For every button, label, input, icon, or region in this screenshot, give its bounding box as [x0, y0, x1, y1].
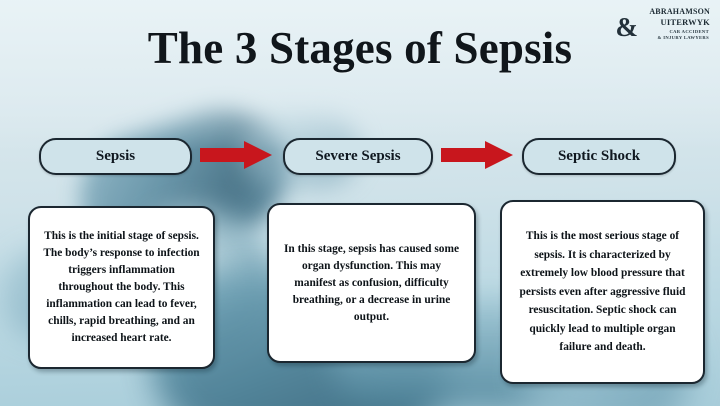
stage-description-card-septic-shock: This is the most serious stage of sepsis… [500, 200, 705, 384]
page-title: The 3 Stages of Sepsis [0, 22, 720, 74]
stage-description-text: This is the most serious stage of sepsis… [513, 227, 692, 357]
stage-description-text: This is the initial stage of sepsis. The… [41, 228, 202, 347]
stage-description-card-severe-sepsis: In this stage, sepsis has caused some or… [267, 203, 476, 363]
right-arrow-icon [200, 140, 272, 170]
stage-description-text: In this stage, sepsis has caused some or… [280, 241, 463, 326]
stage-label-text: Severe Sepsis [315, 148, 400, 165]
stage-label-sepsis: Sepsis [39, 138, 192, 175]
stage-description-card-sepsis: This is the initial stage of sepsis. The… [28, 206, 215, 369]
stage-label-severe-sepsis: Severe Sepsis [283, 138, 433, 175]
brand-name-line1: ABRAHAMSON [649, 7, 710, 16]
infographic-slide: & ABRAHAMSON UITERWYK CAR ACCIDENT & INJ… [0, 0, 720, 406]
stage-label-septic-shock: Septic Shock [522, 138, 676, 175]
stage-label-text: Septic Shock [558, 148, 640, 165]
stage-label-text: Sepsis [96, 148, 135, 165]
right-arrow-icon [441, 140, 513, 170]
